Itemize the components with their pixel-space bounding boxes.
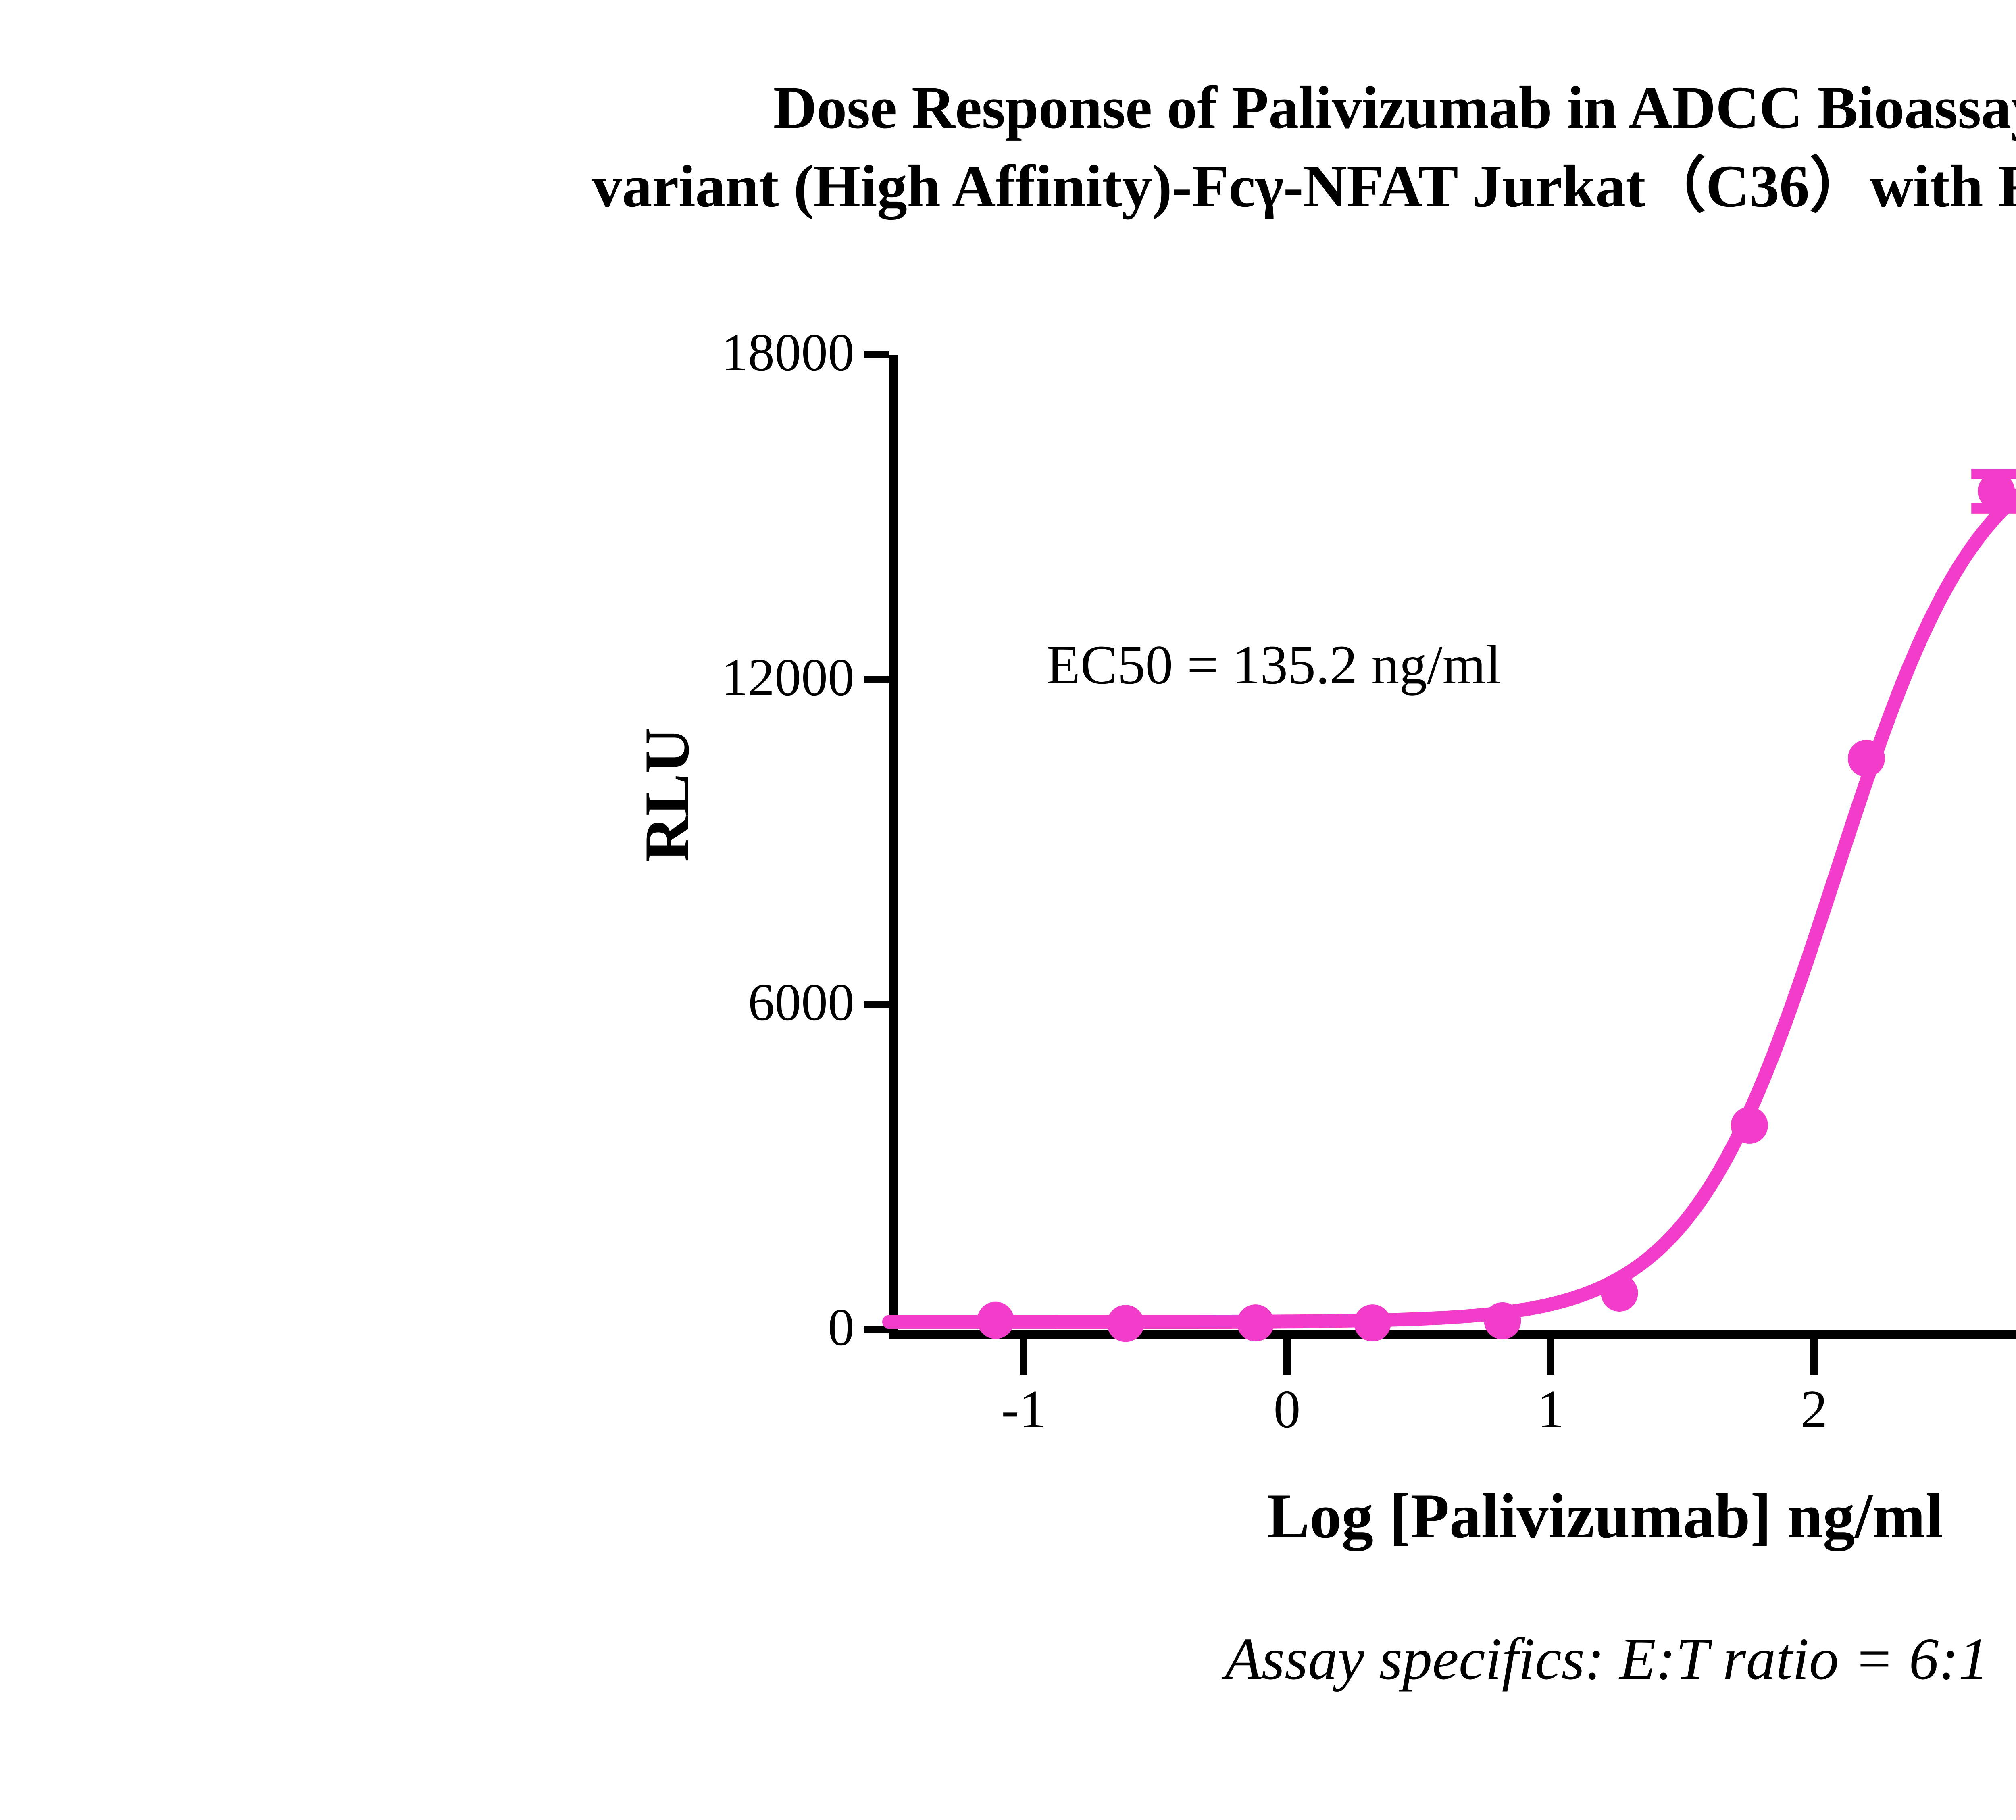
plot-area: 0 6000 12000 18000 -1 0 1 2 3 4 RLU Log … (889, 355, 2016, 1330)
x-tick-label-1: 1 (1490, 1382, 1611, 1436)
data-point-markers (977, 389, 2016, 1342)
data-point (1484, 1302, 1521, 1339)
data-point (1107, 1305, 1144, 1342)
x-axis-spine (889, 1330, 2016, 1339)
chart-title-line-2: variant (High Affinity)-Fcγ-NFAT Jurkat（… (0, 147, 2016, 226)
y-tick-label-12000: 12000 (721, 651, 854, 704)
x-axis-title: Log [Palivizumab] ng/ml (889, 1480, 2016, 1553)
data-point (1731, 1107, 1768, 1144)
data-point (1237, 1304, 1274, 1341)
y-axis-title: RLU (631, 613, 704, 976)
chart-figure: Dose Response of Palivizumab in ADCC Bio… (0, 0, 2016, 1820)
series-layer (889, 355, 2016, 1330)
x-tick-mark--1 (1020, 1339, 1027, 1375)
data-point (977, 1302, 1014, 1339)
dose-response-curve (889, 429, 2016, 1322)
y-tick-label-0: 0 (828, 1301, 854, 1354)
data-point (1848, 740, 1885, 777)
y-tick-label-18000: 18000 (721, 326, 854, 379)
x-tick-label-2: 2 (1754, 1382, 1874, 1436)
y-tick-label-6000: 6000 (748, 976, 854, 1029)
y-tick-mark-6000 (864, 1001, 889, 1008)
chart-title-line-1: Dose Response of Palivizumab in ADCC Bio… (0, 69, 2016, 147)
x-tick-mark-2 (1810, 1339, 1818, 1375)
figure-caption: Assay specifics: E:T ratio = 6:1 (0, 1625, 2016, 1693)
chart-title: Dose Response of Palivizumab in ADCC Bio… (0, 69, 2016, 226)
y-tick-mark-18000 (864, 351, 889, 358)
x-tick-label-0: 0 (1227, 1382, 1347, 1436)
x-tick-mark-0 (1283, 1339, 1291, 1375)
x-tick-label--1: -1 (963, 1382, 1084, 1436)
data-point (1978, 473, 2015, 510)
data-point (1601, 1274, 1638, 1312)
x-tick-mark-1 (1547, 1339, 1554, 1375)
data-point (1354, 1304, 1391, 1341)
y-tick-mark-12000 (864, 676, 889, 683)
